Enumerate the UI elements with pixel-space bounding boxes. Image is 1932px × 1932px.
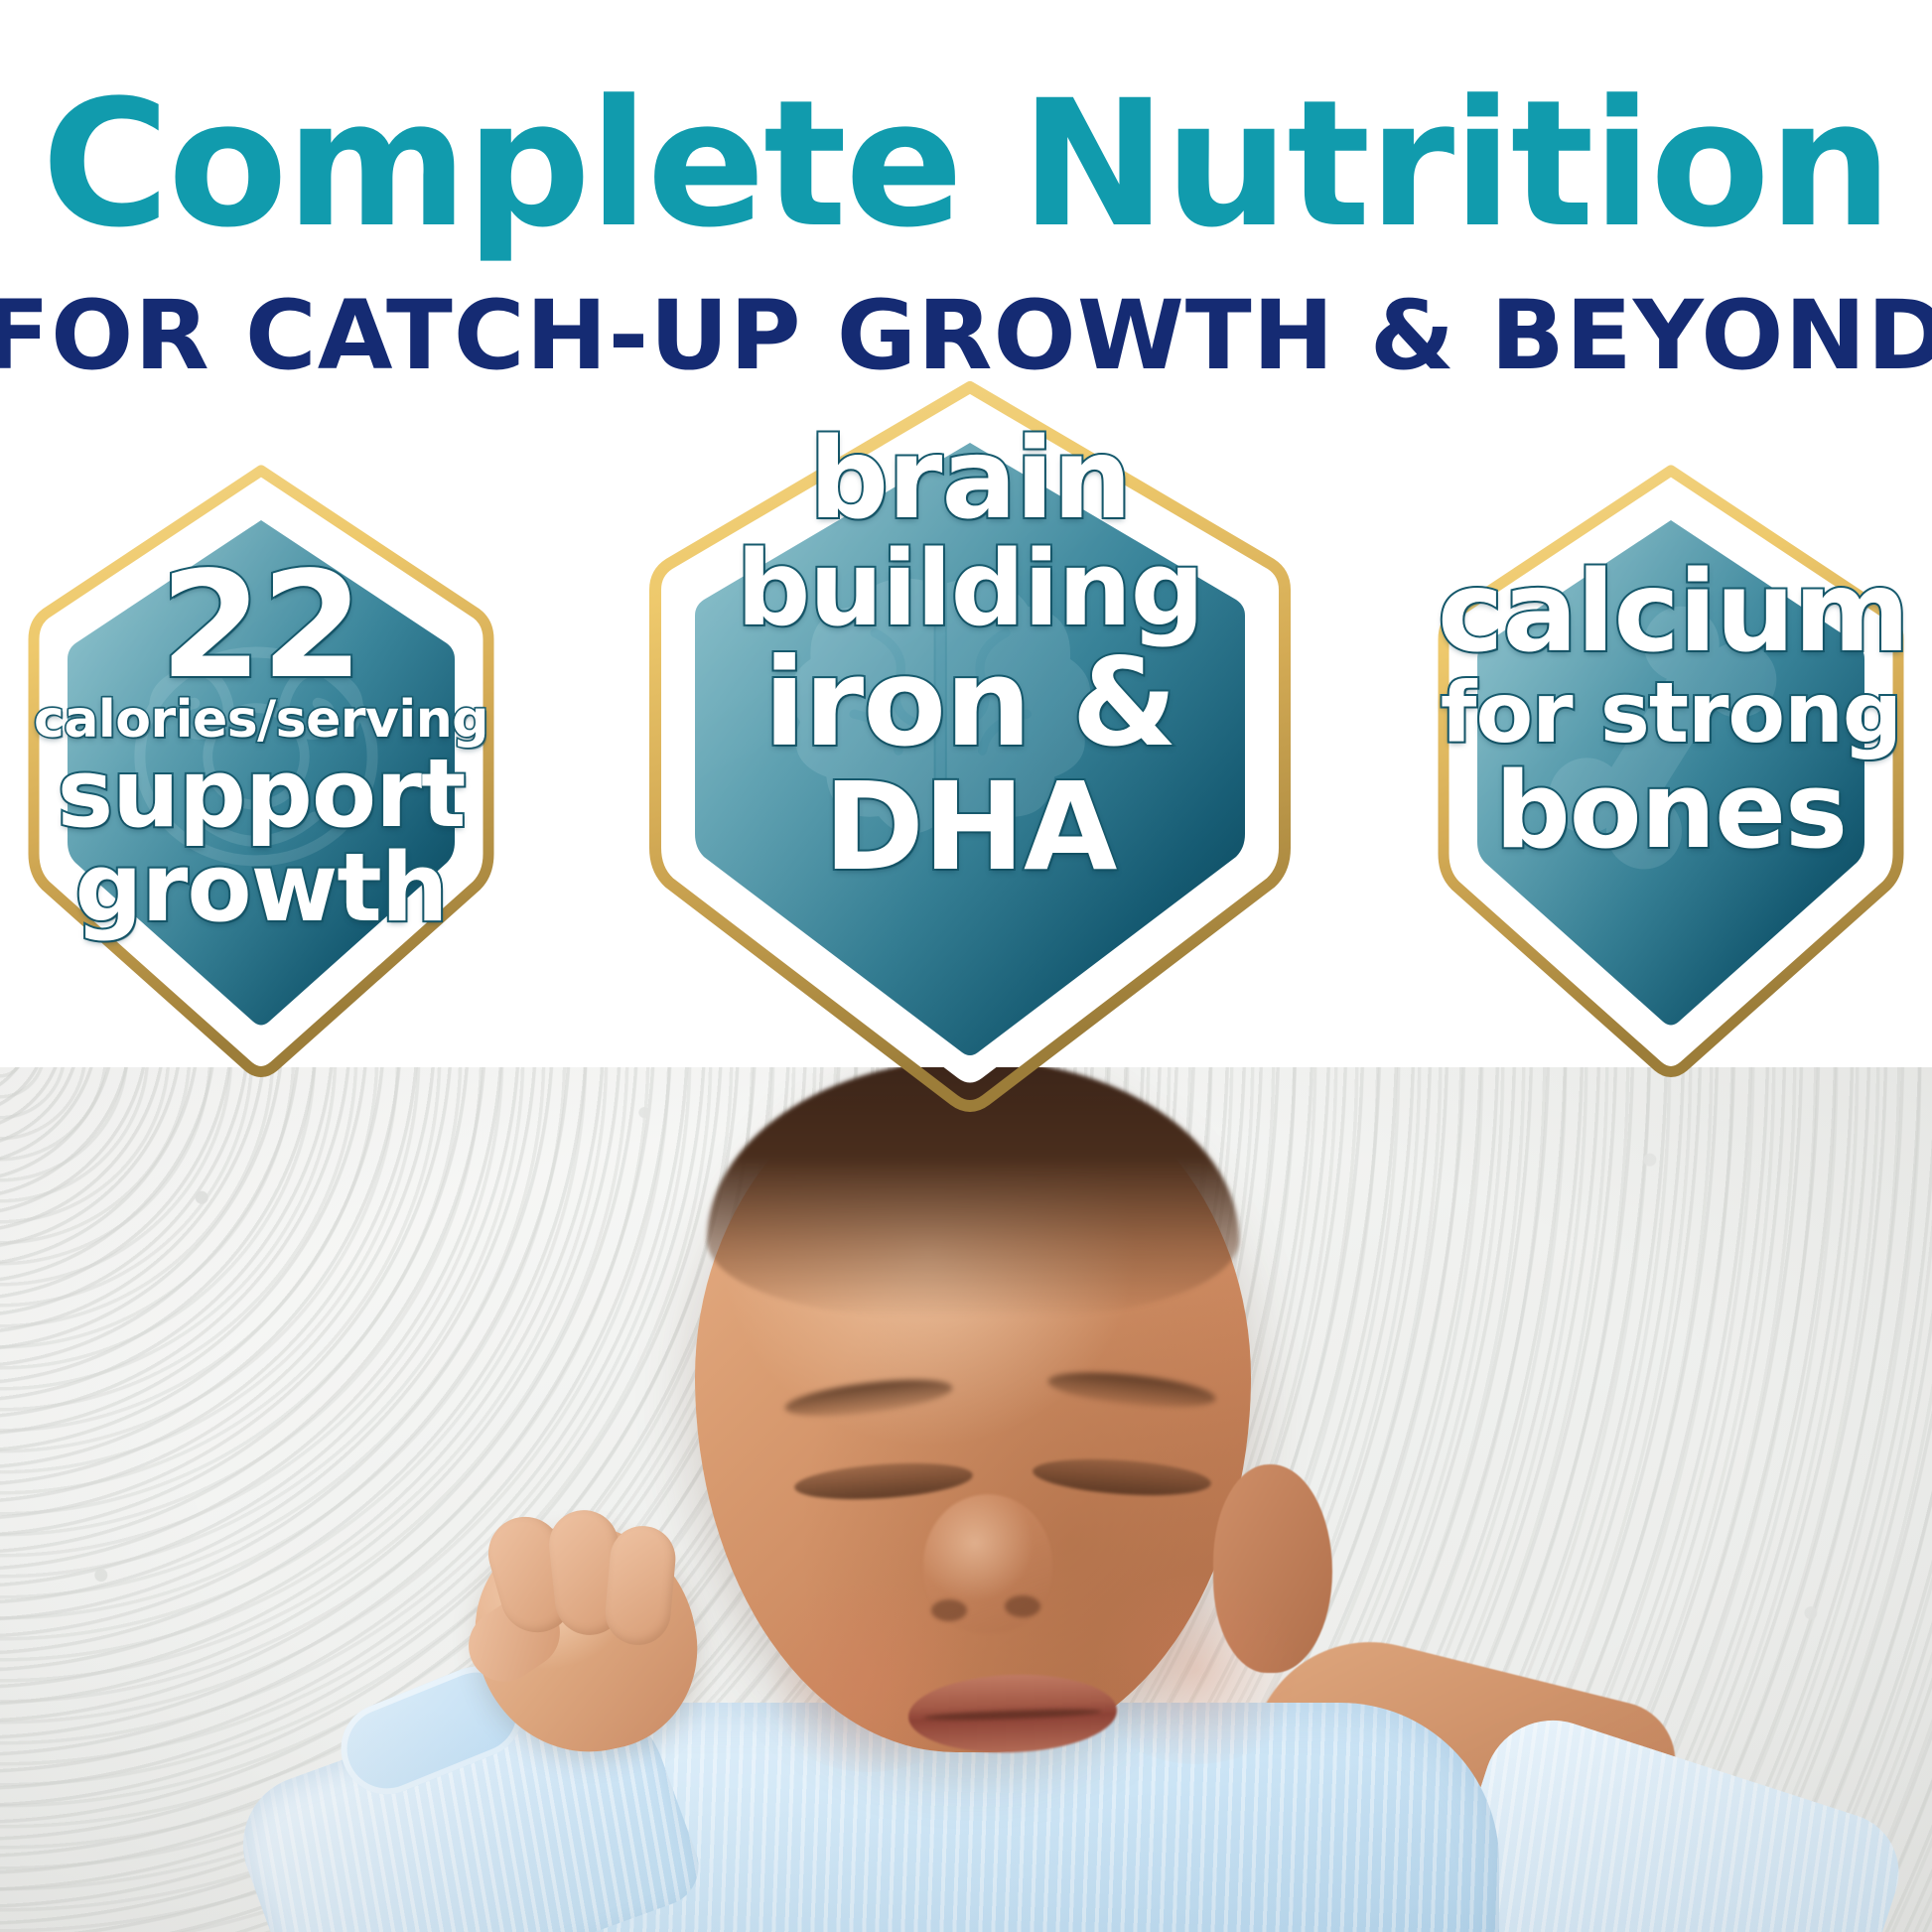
- promo-graphic: Complete Nutrition FOR CATCH-UP GROWTH &…: [0, 0, 1932, 1932]
- baby-photo: [0, 1067, 1932, 1932]
- photo-vignette: [0, 1067, 1932, 1932]
- benefit-badge-brain: brain building iron & DHA: [647, 381, 1293, 1116]
- benefit-badge-row: 22 calories/serving support growth: [0, 0, 1932, 1112]
- benefit-badge-calories: 22 calories/serving support growth: [28, 465, 494, 1080]
- benefit-badge-calcium: calcium for strong bones: [1438, 465, 1904, 1080]
